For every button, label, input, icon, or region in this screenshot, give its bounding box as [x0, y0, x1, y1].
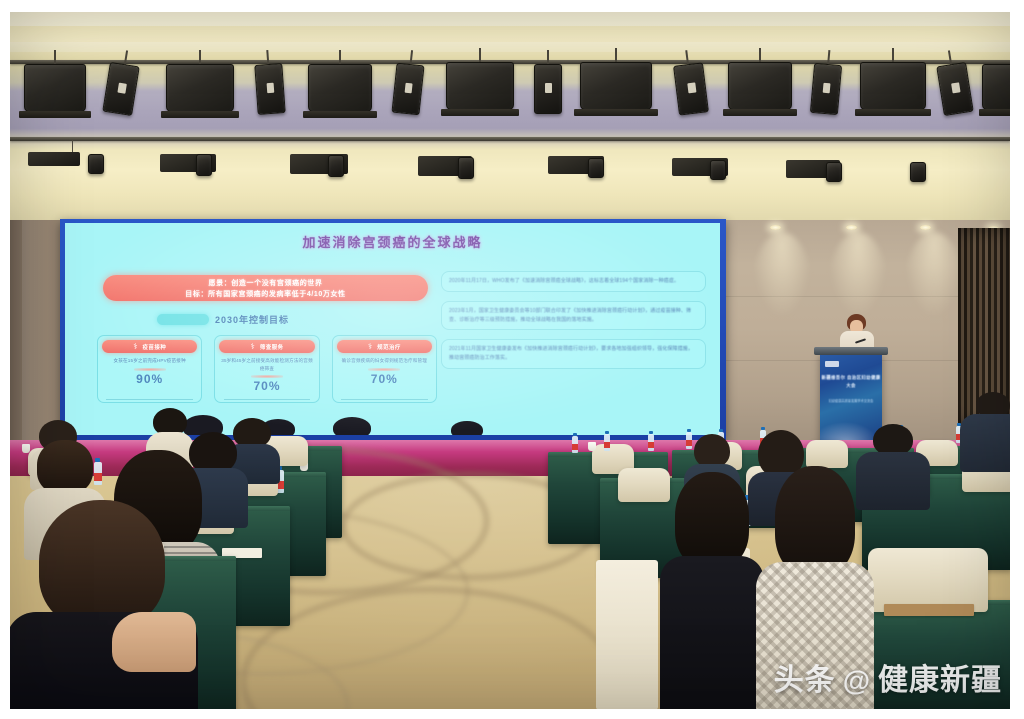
stage-light-spot [102, 62, 139, 116]
podium-title: 新疆维吾尔 自治区妇幼健康大会 [820, 374, 882, 391]
watermark: 头条 @ 健康新疆 [774, 655, 1002, 699]
target-cards: ⚕ 疫苗接种 女孩在15岁之前完成HPV疫苗接种 90% ⚕ 筛查服务 35岁和… [97, 335, 437, 403]
water-bottle [648, 434, 654, 451]
target-card: ⚕ 规范治疗 确诊宫颈疾病的妇女得到规范治疗和管理 70% [332, 335, 437, 403]
card-header: ⚕ 疫苗接种 [102, 340, 197, 353]
note-box: 2020年11月17日，WHO发布了《加速消除宫颈癌全球战略》，这标志着全球19… [441, 271, 706, 292]
vaccine-icon: ⚕ [133, 343, 137, 351]
stage-light-spot [936, 62, 973, 116]
card-divider [134, 368, 166, 371]
tea-cup [588, 442, 596, 451]
card-body-text: 女孩在15岁之前完成HPV疫苗接种 [102, 357, 197, 365]
card-body-text: 35岁和45岁之前接受高效能检测方法的宫颈癌筛查 [219, 357, 314, 372]
card-header-label: 筛查服务 [260, 343, 284, 351]
stage-light-spot [391, 63, 424, 116]
card-body-text: 确诊宫颈疾病的妇女得到规范治疗和管理 [337, 357, 432, 365]
screening-icon: ⚕ [251, 343, 255, 351]
card-percent: 70% [333, 372, 436, 386]
conference-photo: 加速消除宫颈癌的全球战略 愿景：创造一个没有宫颈癌的世界 目标：所有国家宫颈癌的… [0, 0, 1024, 719]
lighting-truss-rear [10, 137, 1010, 141]
vision-line: 愿景：创造一个没有宫颈癌的世界 [209, 278, 323, 288]
stage-light-spot [588, 158, 604, 178]
stage-light-spot [196, 154, 212, 176]
projection-screen: 加速消除宫颈癌的全球战略 愿景：创造一个没有宫颈癌的世界 目标：所有国家宫颈癌的… [65, 223, 720, 435]
podium-subtitle: 妇幼健康高质量发展学术交流会 [820, 398, 882, 404]
note-text: 2020年11月17日，WHO发布了《加速消除宫颈癌全球战略》，这标志着全球19… [449, 277, 698, 286]
goal-label: 2030年控制目标 [215, 313, 289, 326]
card-percent: 70% [215, 379, 318, 393]
stage-light-par [166, 64, 234, 112]
slide-vision-banner: 愿景：创造一个没有宫颈癌的世界 目标：所有国家宫颈癌的发病率低于4/10万女性 [103, 275, 428, 301]
ceiling-downlight [920, 225, 931, 230]
goal-line: 目标：所有国家宫颈癌的发病率低于4/10万女性 [185, 289, 345, 299]
watermark-brand: 头条 [774, 655, 836, 699]
stage-light-spot [673, 62, 709, 115]
card-divider [251, 375, 283, 378]
stage-light-spot [910, 162, 926, 182]
projection-screen-frame: 加速消除宫颈癌的全球战略 愿景：创造一个没有宫颈癌的世界 目标：所有国家宫颈癌的… [60, 219, 726, 440]
document-paper [884, 604, 974, 616]
stage-light-spot [254, 63, 285, 115]
water-bottle [604, 434, 610, 451]
stage-light-spot [710, 160, 726, 180]
ceiling-downlight [846, 225, 857, 230]
ceiling-downlight [770, 225, 781, 230]
card-header-label: 疫苗接种 [143, 343, 167, 351]
goal-row: 2030年控制目标 [157, 311, 427, 327]
card-header: ⚕ 筛查服务 [219, 340, 314, 353]
stage-light-par [446, 62, 514, 110]
water-bottle [572, 436, 578, 453]
audience-arm [112, 612, 196, 672]
card-header: ⚕ 规范治疗 [337, 340, 432, 353]
note-text: 2023年1月，国家卫生健康委员会等10部门联合印发了《加快推进消除宫颈癌行动计… [449, 307, 698, 325]
slide-title: 加速消除宫颈癌的全球战略 [65, 232, 720, 251]
stage-light-spot [88, 154, 104, 174]
note-text: 2021年11月国家卫生健康委发布《加快推进消除宫颈癌行动计划》，要求各地加强组… [449, 345, 698, 363]
stage-light-par [308, 64, 372, 112]
stage-light-spot [534, 64, 562, 114]
stage-light-spot [810, 63, 842, 115]
audience-person-foreground [660, 472, 764, 719]
audience-person-foreground [6, 500, 198, 719]
stage-light-spot [458, 157, 474, 179]
goal-pill-marker [157, 314, 209, 325]
stage-light-par [860, 62, 926, 110]
stage-light-spot [826, 162, 842, 182]
slide-notes: 2020年11月17日，WHO发布了《加速消除宫颈癌全球战略》，这标志着全球19… [441, 271, 706, 378]
target-card: ⚕ 疫苗接种 女孩在15岁之前完成HPV疫苗接种 90% [97, 335, 202, 403]
card-percent: 90% [98, 372, 201, 386]
card-header-label: 规范治疗 [377, 343, 401, 351]
podium-logo [825, 361, 839, 367]
card-divider [368, 368, 400, 371]
target-card: ⚕ 筛查服务 35岁和45岁之前接受高效能检测方法的宫颈癌筛查 70% [214, 335, 319, 403]
treatment-icon: ⚕ [368, 343, 372, 351]
ceiling [10, 12, 1010, 220]
note-box: 2023年1月，国家卫生健康委员会等10部门联合印发了《加快推进消除宫颈癌行动计… [441, 301, 706, 331]
note-box: 2021年11月国家卫生健康委发布《加快推进消除宫颈癌行动计划》，要求各地加强组… [441, 339, 706, 369]
chair [868, 548, 988, 612]
watermark-at-symbol: @ [843, 665, 871, 697]
podium-top [814, 347, 888, 355]
stage-light-par [580, 62, 652, 110]
stage-light-par [24, 64, 86, 112]
stage-light-par [728, 62, 792, 110]
stage-light-small [28, 152, 80, 166]
wall-left-column [10, 220, 62, 445]
chair-skirt [596, 560, 658, 710]
stage-light-spot [328, 155, 344, 177]
watermark-account: 健康新疆 [878, 655, 1002, 699]
